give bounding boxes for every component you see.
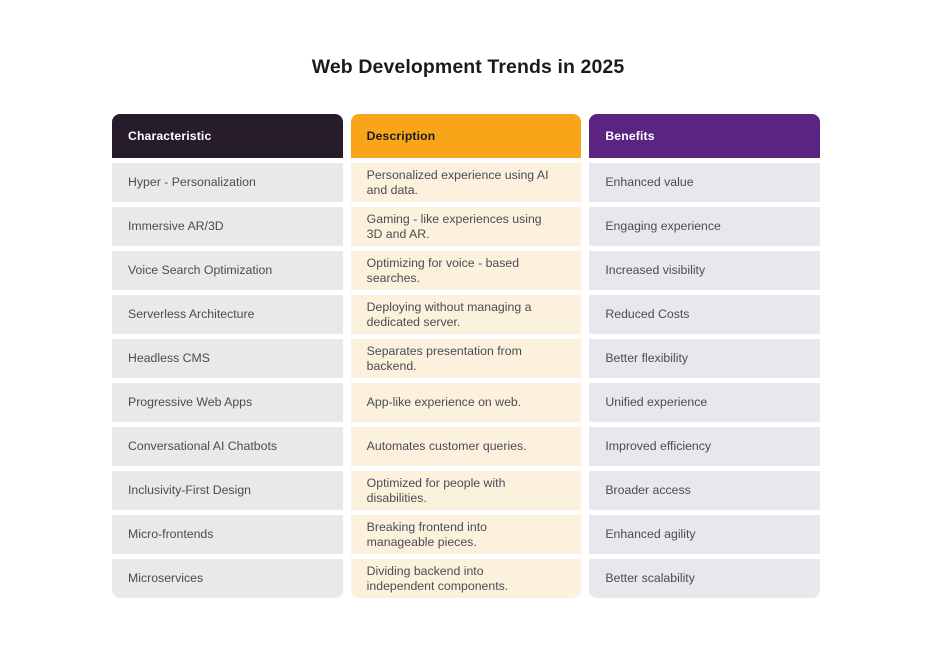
cell-text: Enhanced value [605,175,804,189]
cell-text-line1: Separates presentation from [367,344,566,358]
cell-text: Voice Search Optimization [128,263,327,277]
table-cell-characteristic: Immersive AR/3D [112,207,343,246]
table-cell-benefits: Enhanced value [589,163,820,202]
cell-text-line1: Dividing backend into [367,564,566,578]
cell-text: Hyper - Personalization [128,175,327,189]
table-cell-description: Automates customer queries. [351,427,582,466]
cell-text: Increased visibility [605,263,804,277]
column-description: Description Personalized experience usin… [351,114,582,598]
cell-text-line2: 3D and AR. [367,227,566,241]
table-cell-benefits: Increased visibility [589,251,820,290]
cell-text: Immersive AR/3D [128,219,327,233]
cell-text-line1: Deploying without managing a [367,300,566,314]
trends-table: Characteristic Hyper - Personalization I… [112,114,820,598]
table-cell-characteristic: Conversational AI Chatbots [112,427,343,466]
table-cell-characteristic: Serverless Architecture [112,295,343,334]
table-cell-benefits: Improved efficiency [589,427,820,466]
table-cell-description: Separates presentation frombackend. [351,339,582,378]
table-cell-benefits: Better flexibility [589,339,820,378]
table-cell-description: Deploying without managing adedicated se… [351,295,582,334]
table-cell-characteristic: Micro-frontends [112,515,343,554]
table-cell-benefits: Reduced Costs [589,295,820,334]
cell-text: Unified experience [605,395,804,409]
column-header-description: Description [351,114,582,158]
table-cell-characteristic: Voice Search Optimization [112,251,343,290]
cell-text: Enhanced agility [605,527,804,541]
column-header-characteristic: Characteristic [112,114,343,158]
table-cell-characteristic: Hyper - Personalization [112,163,343,202]
table-cell-benefits: Enhanced agility [589,515,820,554]
page-root: Web Development Trends in 2025 Character… [0,0,936,661]
table-cell-description: Dividing backend intoindependent compone… [351,559,582,598]
cell-text-line1: App-like experience on web. [367,395,566,409]
table-cell-benefits: Engaging experience [589,207,820,246]
table-cell-characteristic: Microservices [112,559,343,598]
table-cell-characteristic: Inclusivity-First Design [112,471,343,510]
cell-text-line1: Automates customer queries. [367,439,566,453]
column-characteristic: Characteristic Hyper - Personalization I… [112,114,343,598]
cell-text-line2: backend. [367,359,566,373]
cell-text: Inclusivity-First Design [128,483,327,497]
cell-text-line2: searches. [367,271,566,285]
table-cell-description: App-like experience on web. [351,383,582,422]
cell-text: Reduced Costs [605,307,804,321]
cell-text: Broader access [605,483,804,497]
cell-text-line1: Personalized experience using AI [367,168,566,182]
table-cell-characteristic: Headless CMS [112,339,343,378]
cell-text-line2: independent components. [367,579,566,593]
cell-text-line1: Gaming - like experiences using [367,212,566,226]
cell-text: Headless CMS [128,351,327,365]
cell-text: Micro-frontends [128,527,327,541]
cell-text-line1: Breaking frontend into [367,520,566,534]
table-cell-characteristic: Progressive Web Apps [112,383,343,422]
cell-text-line2: and data. [367,183,566,197]
cell-text-line2: disabilities. [367,491,566,505]
cell-text: Better scalability [605,571,804,585]
table-cell-description: Optimizing for voice - basedsearches. [351,251,582,290]
cell-text: Engaging experience [605,219,804,233]
table-cell-description: Optimized for people withdisabilities. [351,471,582,510]
column-benefits: Benefits Enhanced value Engaging experie… [589,114,820,598]
column-header-benefits: Benefits [589,114,820,158]
table-cell-benefits: Broader access [589,471,820,510]
table-cell-description: Gaming - like experiences using3D and AR… [351,207,582,246]
cell-text-line2: manageable pieces. [367,535,566,549]
cell-text: Serverless Architecture [128,307,327,321]
cell-text: Progressive Web Apps [128,395,327,409]
cell-text: Improved efficiency [605,439,804,453]
table-cell-benefits: Unified experience [589,383,820,422]
cell-text: Conversational AI Chatbots [128,439,327,453]
cell-text-line2: dedicated server. [367,315,566,329]
cell-text-line1: Optimized for people with [367,476,566,490]
cell-text-line1: Optimizing for voice - based [367,256,566,270]
table-cell-description: Personalized experience using AIand data… [351,163,582,202]
table-cell-benefits: Better scalability [589,559,820,598]
page-title: Web Development Trends in 2025 [0,56,936,79]
cell-text: Better flexibility [605,351,804,365]
table-cell-description: Breaking frontend intomanageable pieces. [351,515,582,554]
cell-text: Microservices [128,571,327,585]
